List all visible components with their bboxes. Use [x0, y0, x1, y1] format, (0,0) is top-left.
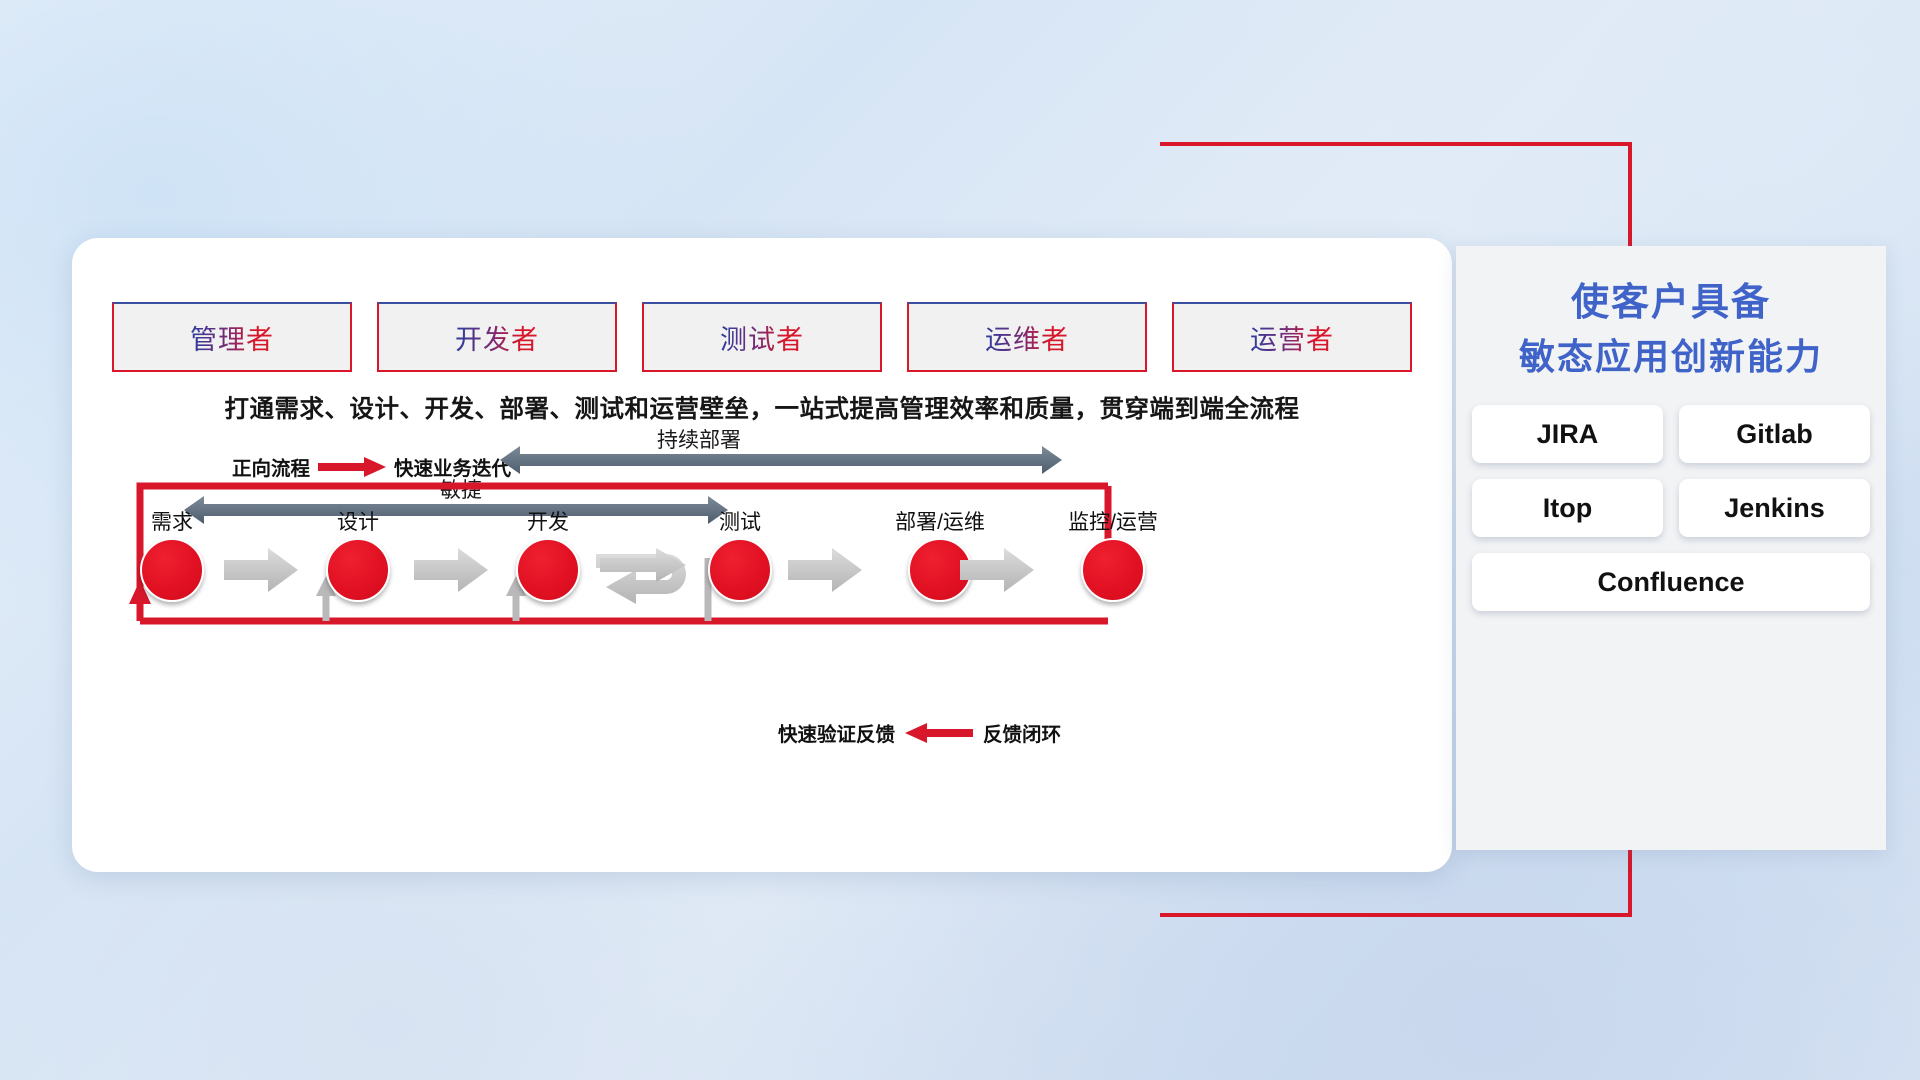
- role-box-manager[interactable]: 管理者: [112, 302, 352, 372]
- legend-feedback-loop: 快速验证反馈 反馈闭环: [778, 718, 1061, 747]
- band-label-continuous-deploy: 持续部署: [657, 424, 741, 454]
- legend-forward-left-label: 正向流程: [232, 452, 310, 481]
- legend-feedback-left-label: 快速验证反馈: [778, 718, 895, 747]
- band-label-agile: 敏捷: [440, 474, 482, 504]
- arrow-iteration-loop-icon: [596, 548, 686, 604]
- tool-pill-gitlab[interactable]: Gitlab: [1679, 405, 1870, 463]
- role-boxes-row: 管理者 开发者 测试者 运维者 运营者: [112, 302, 1412, 372]
- role-box-ops[interactable]: 运维者: [907, 302, 1147, 372]
- role-label: 测试者: [720, 318, 804, 357]
- role-box-tester[interactable]: 测试者: [642, 302, 882, 372]
- tools-heading-line1: 使客户具备: [1456, 276, 1886, 331]
- tool-pill-jenkins[interactable]: Jenkins: [1679, 479, 1870, 537]
- tool-pill-itop[interactable]: Itop: [1472, 479, 1663, 537]
- role-box-operator[interactable]: 运营者: [1172, 302, 1412, 372]
- tools-grid: JIRA Gitlab Itop Jenkins Confluence: [1472, 405, 1870, 611]
- role-box-developer[interactable]: 开发者: [377, 302, 617, 372]
- tool-pill-confluence[interactable]: Confluence: [1472, 553, 1870, 611]
- pipeline-row: 需求 设计 开发 测试 部署/运维 监控/运营: [100, 506, 1190, 626]
- role-label: 运维者: [985, 318, 1069, 357]
- arrow-left-red-icon: [905, 723, 973, 743]
- tools-heading-line2: 敏态应用创新能力: [1456, 331, 1886, 383]
- arrow-right-red-icon: [318, 457, 386, 477]
- description-text: 打通需求、设计、开发、部署、测试和运营壁垒，一站式提高管理效率和质量，贯穿端到端…: [72, 390, 1452, 425]
- role-label: 开发者: [455, 318, 539, 357]
- role-label: 管理者: [190, 318, 274, 357]
- main-diagram-card: 管理者 开发者 测试者 运维者 运营者 打通需求、设计、开发、部署、测试和运营壁…: [72, 238, 1452, 872]
- legend-feedback-right-label: 反馈闭环: [983, 718, 1061, 747]
- tool-pill-jira[interactable]: JIRA: [1472, 405, 1663, 463]
- arrow-double-continuous-deploy-icon: [500, 446, 1062, 474]
- tools-panel: 使客户具备 敏态应用创新能力 JIRA Gitlab Itop Jenkins …: [1456, 246, 1886, 850]
- tools-panel-heading: 使客户具备 敏态应用创新能力: [1456, 276, 1886, 383]
- role-label: 运营者: [1250, 318, 1334, 357]
- pipeline-arrows-svg: [100, 506, 1190, 626]
